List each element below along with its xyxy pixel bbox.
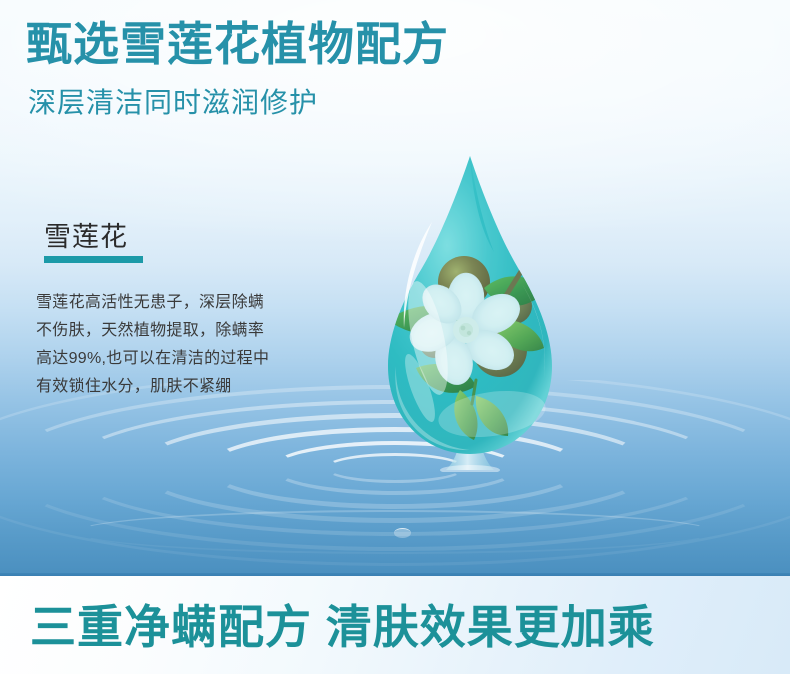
feature-heading: 雪莲花 [44, 224, 128, 251]
ripple-ring-3 [205, 427, 585, 509]
feature-description-line: 有效锁住水分，肌肤不紧绷 [36, 373, 336, 401]
page-subtitle: 深层清洁同时滋润修护 [28, 89, 318, 117]
ripple-ring-5 [65, 400, 725, 536]
ripple-ring-4 [135, 413, 655, 523]
bottom-banner-headline: 三重净螨配方 清肤效果更加乘 [30, 604, 655, 650]
feature-heading-underline [44, 256, 143, 263]
feature-description-line: 不伤肤，天然植物提取，除螨率 [36, 317, 336, 345]
water-ripples [0, 380, 790, 576]
product-feature-poster: 甄选雪莲花植物配方 深层清洁同时滋润修护 雪莲花 雪莲花高活性无患子，深层除螨 … [0, 0, 790, 674]
water-bubble [394, 528, 411, 538]
feature-description-line: 雪莲花高活性无患子，深层除螨 [36, 289, 336, 317]
ripple-ring-8 [75, 510, 715, 554]
ripple-ring-7 [0, 380, 790, 566]
ripple-ring-6 [0, 385, 790, 551]
page-title: 甄选雪莲花植物配方 [26, 21, 449, 67]
ripple-ring-2 [271, 441, 519, 495]
feature-description-line: 高达99%,也可以在清洁的过程中 [36, 345, 336, 373]
feature-description: 雪莲花高活性无患子，深层除螨 不伤肤，天然植物提取，除螨率 高达99%,也可以在… [36, 289, 336, 401]
ripple-ring-1 [325, 453, 465, 483]
